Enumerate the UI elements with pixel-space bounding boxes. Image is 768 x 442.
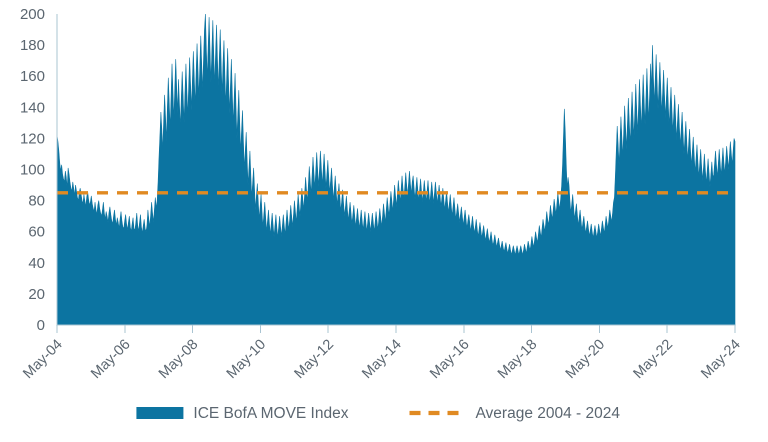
x-axis-tick-label: May-04 — [20, 337, 66, 383]
x-axis-tick-label: May-14 — [359, 337, 405, 383]
move-index-area-chart: 020406080100120140160180200 May-04May-06… — [0, 0, 768, 442]
y-axis-tick-label: 60 — [28, 224, 45, 241]
chart-container: 020406080100120140160180200 May-04May-06… — [0, 0, 768, 442]
chart-legend: ICE BofA MOVE IndexAverage 2004 - 2024 — [136, 405, 620, 422]
y-axis-tick-label: 180 — [20, 37, 45, 54]
x-axis-tick-label: May-12 — [292, 337, 338, 383]
legend-label-series: ICE BofA MOVE Index — [193, 405, 348, 422]
y-axis-tick-label: 160 — [20, 68, 45, 85]
legend-label-average: Average 2004 - 2024 — [476, 405, 621, 422]
y-axis-tick-label: 120 — [20, 130, 45, 147]
x-axis-tick-label: May-22 — [631, 337, 677, 383]
x-axis-tick-label: May-06 — [88, 337, 134, 383]
y-axis-tick-label: 140 — [20, 99, 45, 116]
x-axis-tick-label: May-16 — [427, 337, 473, 383]
x-axis-tick-label: May-24 — [698, 337, 744, 383]
y-axis-tick-label: 80 — [28, 193, 45, 210]
y-axis: 020406080100120140160180200 — [20, 6, 45, 334]
x-axis-tick-label: May-08 — [156, 337, 202, 383]
legend-marker-series — [136, 407, 183, 419]
y-axis-tick-label: 100 — [20, 161, 45, 178]
x-axis-tick-label: May-20 — [563, 337, 609, 383]
y-axis-tick-label: 20 — [28, 286, 45, 303]
y-axis-tick-label: 40 — [28, 255, 45, 272]
y-axis-tick-label: 200 — [20, 6, 45, 23]
x-axis: May-04May-06May-08May-10May-12May-14May-… — [20, 325, 744, 382]
x-axis-tick-label: May-18 — [495, 337, 541, 383]
ice-bofa-move-index-area — [57, 14, 735, 325]
y-axis-tick-label: 0 — [37, 317, 45, 334]
x-axis-tick-label: May-10 — [224, 337, 270, 383]
